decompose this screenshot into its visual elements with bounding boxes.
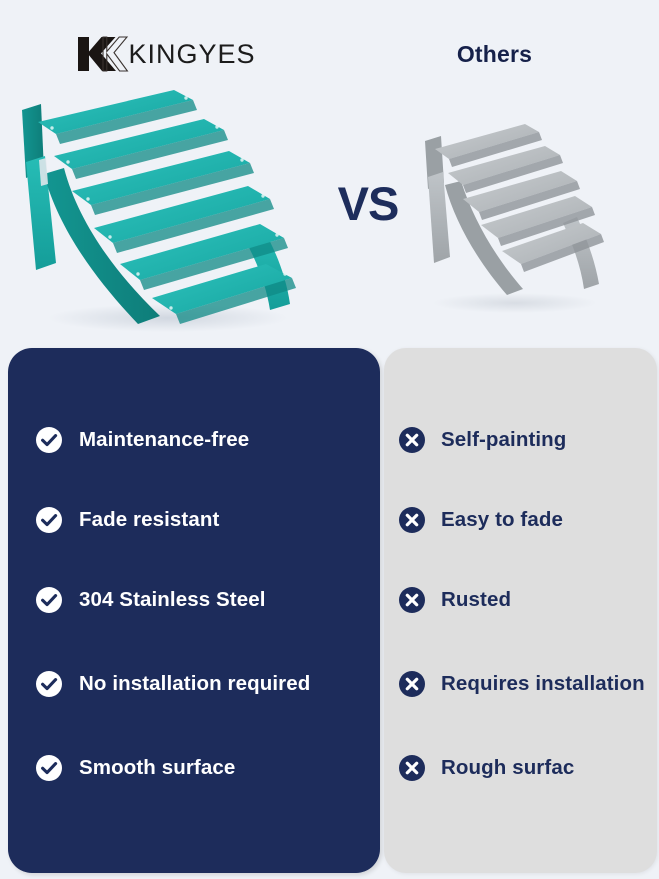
- list-item: Fade resistant: [8, 480, 380, 560]
- check-circle-icon: [35, 754, 63, 782]
- x-circle-icon: [398, 506, 426, 534]
- brand-name: KINGYES: [128, 41, 255, 68]
- x-circle-icon: [398, 426, 426, 454]
- others-feature-list: Self-painting Easy to fade Rusted: [384, 348, 657, 873]
- feature-label: No installation required: [79, 672, 310, 696]
- list-item: Smooth surface: [8, 728, 380, 808]
- check-circle-icon: [35, 670, 63, 698]
- feature-label: Maintenance-free: [79, 428, 249, 452]
- list-item: Self-painting: [384, 400, 657, 480]
- drawback-label: Self-painting: [441, 428, 566, 452]
- ours-feature-list: Maintenance-free Fade resistant 304 Stai…: [8, 348, 380, 873]
- competitor-header: Others: [330, 32, 659, 76]
- x-circle-icon: [398, 670, 426, 698]
- brand-header: KINGYES: [0, 32, 330, 76]
- feature-label: Fade resistant: [79, 508, 219, 532]
- list-item: Easy to fade: [384, 480, 657, 560]
- brand-logo: KINGYES: [74, 34, 255, 74]
- check-circle-icon: [35, 506, 63, 534]
- drawback-label: Rusted: [441, 588, 511, 612]
- list-item: No installation required: [8, 640, 380, 728]
- check-circle-icon: [35, 586, 63, 614]
- competitor-product-image: [405, 105, 620, 315]
- comparison-infographic: KINGYES Others: [0, 0, 659, 879]
- list-item: Rusted: [384, 560, 657, 640]
- list-item: Requires installation: [384, 640, 657, 728]
- list-item: Rough surfac: [384, 728, 657, 808]
- drawback-label: Requires installation: [441, 672, 645, 696]
- x-circle-icon: [398, 586, 426, 614]
- feature-label: Smooth surface: [79, 756, 235, 780]
- vs-label: VS: [318, 172, 418, 234]
- list-item: Maintenance-free: [8, 400, 380, 480]
- competitor-title: Others: [457, 41, 532, 68]
- check-circle-icon: [35, 426, 63, 454]
- drawback-label: Easy to fade: [441, 508, 563, 532]
- kingyes-k-logo-icon: [74, 34, 130, 74]
- list-item: 304 Stainless Steel: [8, 560, 380, 640]
- x-circle-icon: [398, 754, 426, 782]
- kingyes-product-image: [8, 88, 318, 333]
- drawback-label: Rough surfac: [441, 756, 574, 780]
- feature-label: 304 Stainless Steel: [79, 588, 266, 612]
